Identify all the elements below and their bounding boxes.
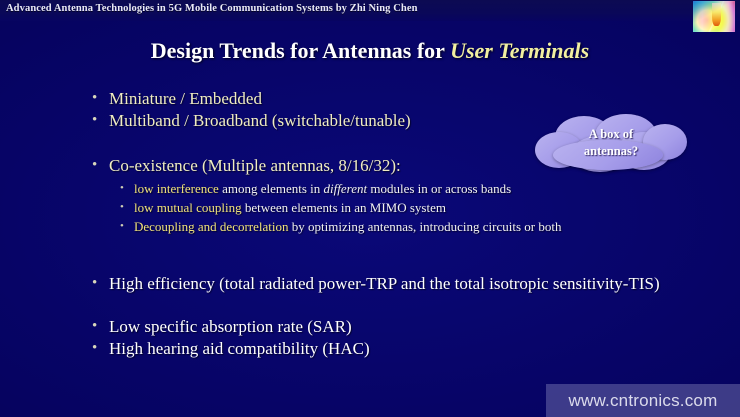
bullet-marker-icon: • [92, 316, 109, 336]
logo-overlay-shape [693, 1, 735, 32]
cloud-callout-line1: A box of [533, 126, 689, 143]
bullet-marker-icon: • [92, 110, 109, 130]
sub-bullet-label: Decoupling and decorrelation by optimizi… [134, 218, 561, 235]
sub-bullet-highlight: Decoupling and decorrelation [134, 219, 289, 234]
slide-title-accent: User Terminals [450, 38, 589, 63]
sub-bullet-rest-b: modules in or across bands [367, 181, 511, 196]
bullet-label: Miniature / Embedded [109, 88, 262, 109]
bullet-item-multiband: • Multiband / Broadband (switchable/tuna… [92, 110, 411, 131]
bullet-item-high-efficiency: • High efficiency (total radiated power-… [92, 273, 672, 294]
bullet-label: High hearing aid compatibility (HAC) [109, 338, 370, 359]
sub-bullet-rest-a: among elements in [219, 181, 324, 196]
sub-bullet-marker-icon: • [120, 218, 134, 235]
watermark-text: www.cntronics.com [569, 391, 718, 411]
sub-bullet-marker-icon: • [120, 180, 134, 197]
sub-bullet-rest-a: by optimizing antennas, introducing circ… [289, 219, 562, 234]
sub-bullet-highlight: low mutual coupling [134, 200, 242, 215]
bullet-marker-icon: • [92, 155, 109, 175]
sub-bullet-rest-a: between elements in an MIMO system [242, 200, 446, 215]
bullet-marker-icon: • [92, 273, 109, 293]
cloud-callout: A box of antennas? [533, 114, 689, 174]
slide-title: Design Trends for Antennas for User Term… [0, 38, 740, 64]
bullet-label: Multiband / Broadband (switchable/tunabl… [109, 110, 411, 131]
presentation-slide: Advanced Antenna Technologies in 5G Mobi… [0, 0, 740, 417]
bullet-marker-icon: • [92, 88, 109, 108]
field-simulation-thumbnail-icon [693, 1, 735, 32]
bullet-label: Low specific absorption rate (SAR) [109, 316, 352, 337]
presentation-header-title: Advanced Antenna Technologies in 5G Mobi… [6, 3, 418, 14]
sub-bullet-label: low interference among elements in diffe… [134, 180, 511, 197]
sub-bullet-item-low-interference: • low interference among elements in dif… [120, 180, 511, 197]
bullet-item-sar: • Low specific absorption rate (SAR) [92, 316, 352, 337]
slide-title-main: Design Trends for Antennas for [151, 38, 450, 63]
bullet-item-hac: • High hearing aid compatibility (HAC) [92, 338, 370, 359]
bullet-marker-icon: • [92, 338, 109, 358]
watermark-banner: www.cntronics.com [546, 384, 740, 417]
sub-bullet-marker-icon: • [120, 199, 134, 216]
sub-bullet-emphasis: different [324, 181, 368, 196]
cloud-callout-text: A box of antennas? [533, 126, 689, 160]
sub-bullet-highlight: low interference [134, 181, 219, 196]
bullet-item-coexistence: • Co-existence (Multiple antennas, 8/16/… [92, 155, 401, 176]
sub-bullet-item-low-mutual-coupling: • low mutual coupling between elements i… [120, 199, 446, 216]
sub-bullet-item-decoupling: • Decoupling and decorrelation by optimi… [120, 218, 561, 235]
bullet-item-miniature: • Miniature / Embedded [92, 88, 262, 109]
sub-bullet-label: low mutual coupling between elements in … [134, 199, 446, 216]
bullet-label: High efficiency (total radiated power-TR… [109, 273, 660, 294]
cloud-callout-line2: antennas? [533, 143, 689, 160]
bullet-label: Co-existence (Multiple antennas, 8/16/32… [109, 155, 401, 176]
